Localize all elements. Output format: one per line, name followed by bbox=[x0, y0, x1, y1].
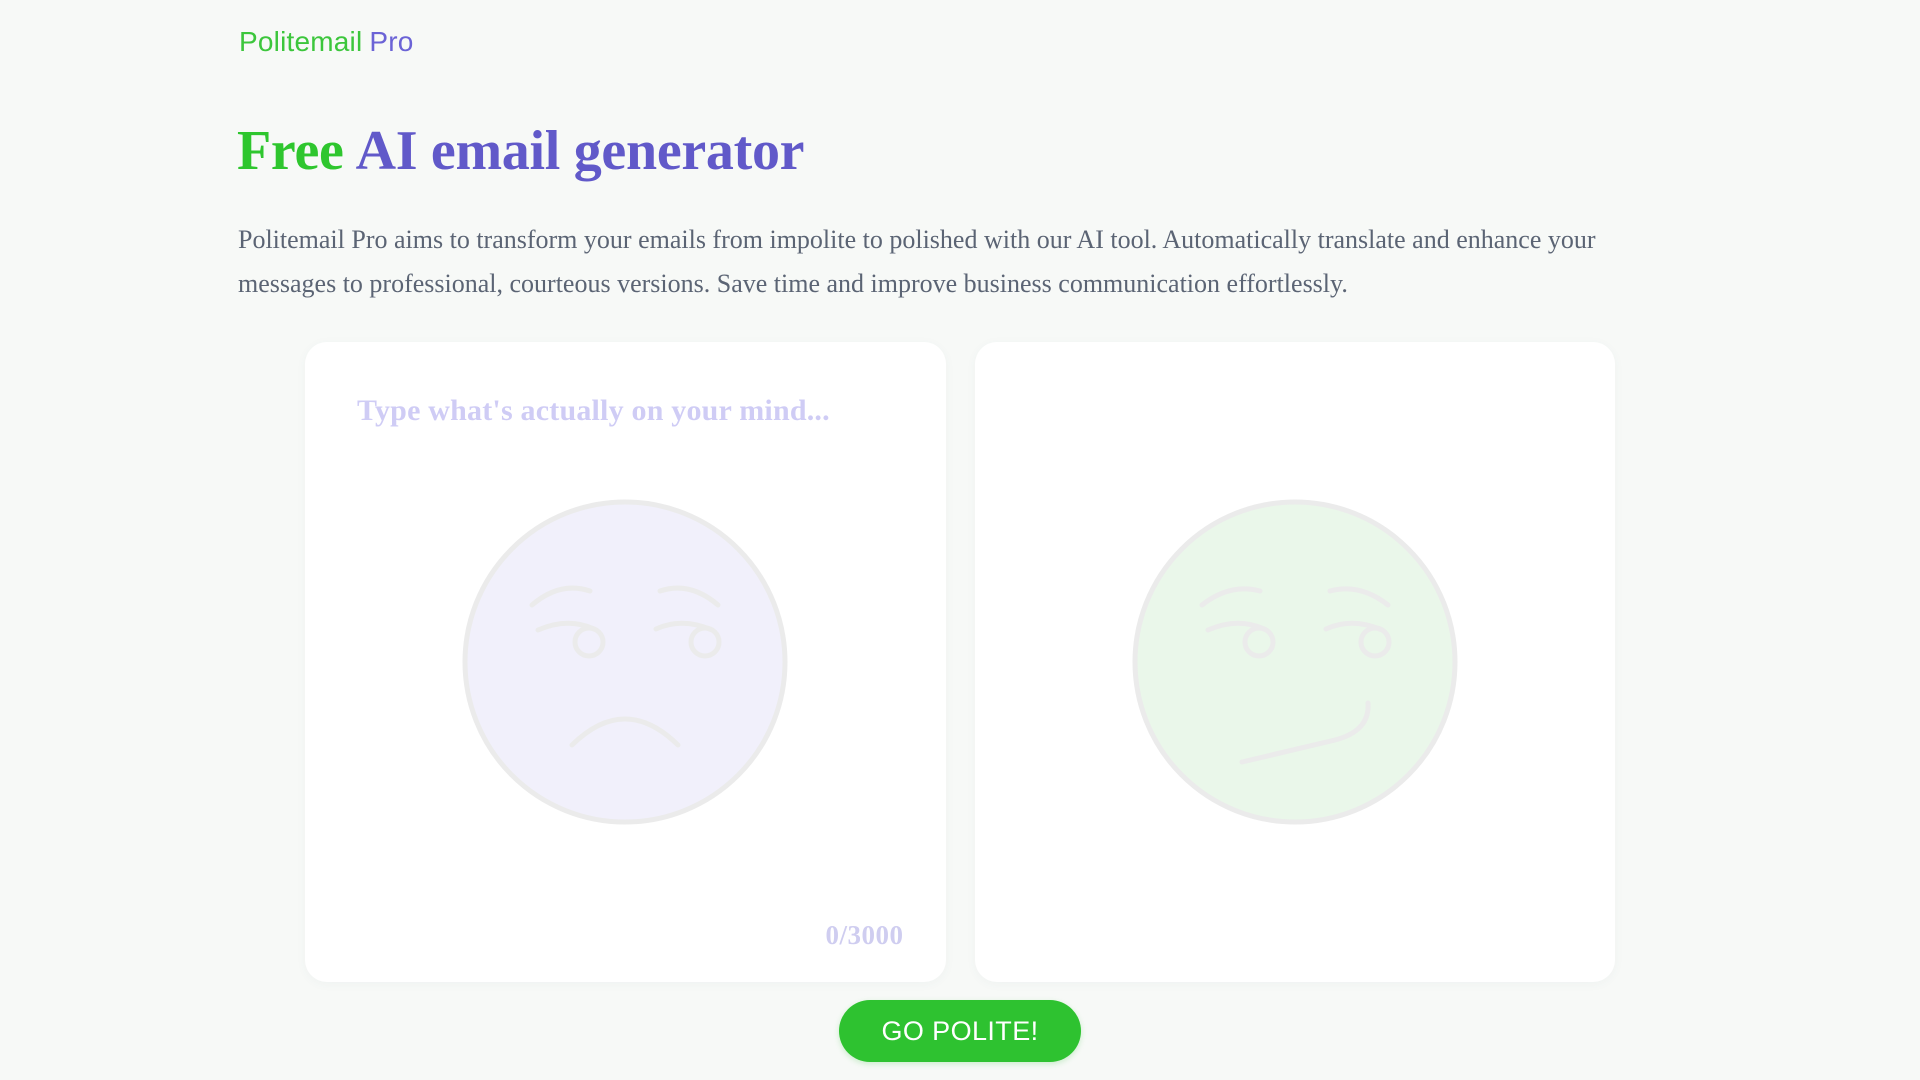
smirk-face-icon bbox=[1130, 497, 1460, 827]
input-placeholder: Type what's actually on your mind... bbox=[357, 392, 830, 430]
page-root: PolitemailPro FreeAI email generator Pol… bbox=[0, 0, 1920, 1080]
editor-panels: Type what's actually on your mind... bbox=[305, 342, 1615, 982]
input-card[interactable]: Type what's actually on your mind... bbox=[305, 342, 946, 982]
brand-suffix: Pro bbox=[369, 26, 413, 57]
output-card[interactable] bbox=[975, 342, 1616, 982]
page-title-accent: Free bbox=[237, 120, 344, 182]
character-counter: 0/3000 bbox=[825, 919, 903, 951]
page-title: FreeAI email generator bbox=[237, 120, 804, 182]
smirk-face-illustration bbox=[975, 342, 1616, 982]
submit-row: GO POLITE! bbox=[0, 1000, 1920, 1062]
sad-face-illustration bbox=[305, 342, 946, 982]
page-title-rest: AI email generator bbox=[356, 120, 805, 182]
brand-logo[interactable]: PolitemailPro bbox=[239, 25, 414, 59]
go-polite-button[interactable]: GO POLITE! bbox=[839, 1000, 1080, 1062]
intro-paragraph: Politemail Pro aims to transform your em… bbox=[238, 218, 1658, 306]
sad-face-icon bbox=[460, 497, 790, 827]
brand-name: Politemail bbox=[239, 26, 362, 57]
